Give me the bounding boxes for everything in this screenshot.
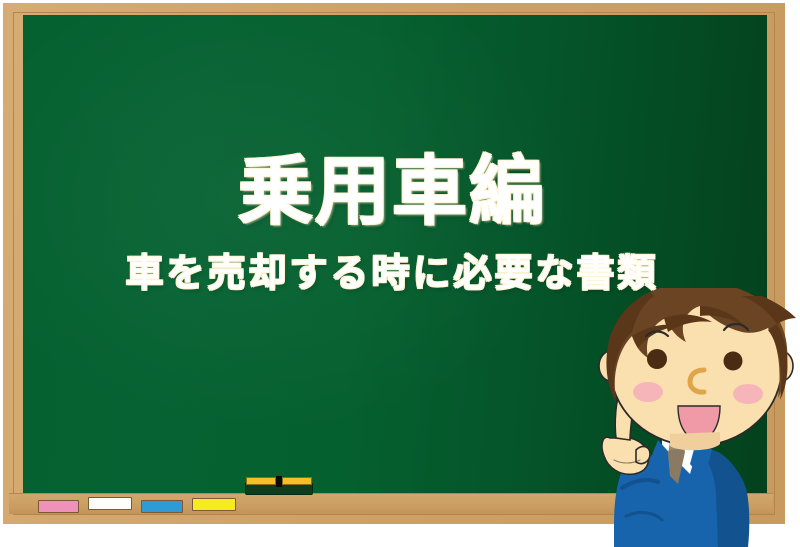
cheek-right (733, 384, 763, 404)
eraser-grip (276, 476, 282, 487)
cheek-left (633, 382, 663, 402)
screenshot-canvas: 乗用車編 車を売却する時に必要な書類 (0, 0, 800, 547)
chalk-blue[interactable] (141, 500, 183, 513)
chalk-pink[interactable] (38, 500, 79, 513)
eye-right (724, 352, 743, 371)
eraser-felt-right (282, 477, 312, 485)
eraser-felt-left (246, 477, 276, 485)
eye-left (647, 349, 667, 369)
neck (670, 432, 720, 450)
chalk-yellow[interactable] (192, 498, 236, 511)
chalk-white[interactable] (88, 497, 132, 510)
schoolboy-pointing-up-illustration (592, 288, 800, 547)
blackboard-eraser[interactable] (245, 477, 313, 495)
